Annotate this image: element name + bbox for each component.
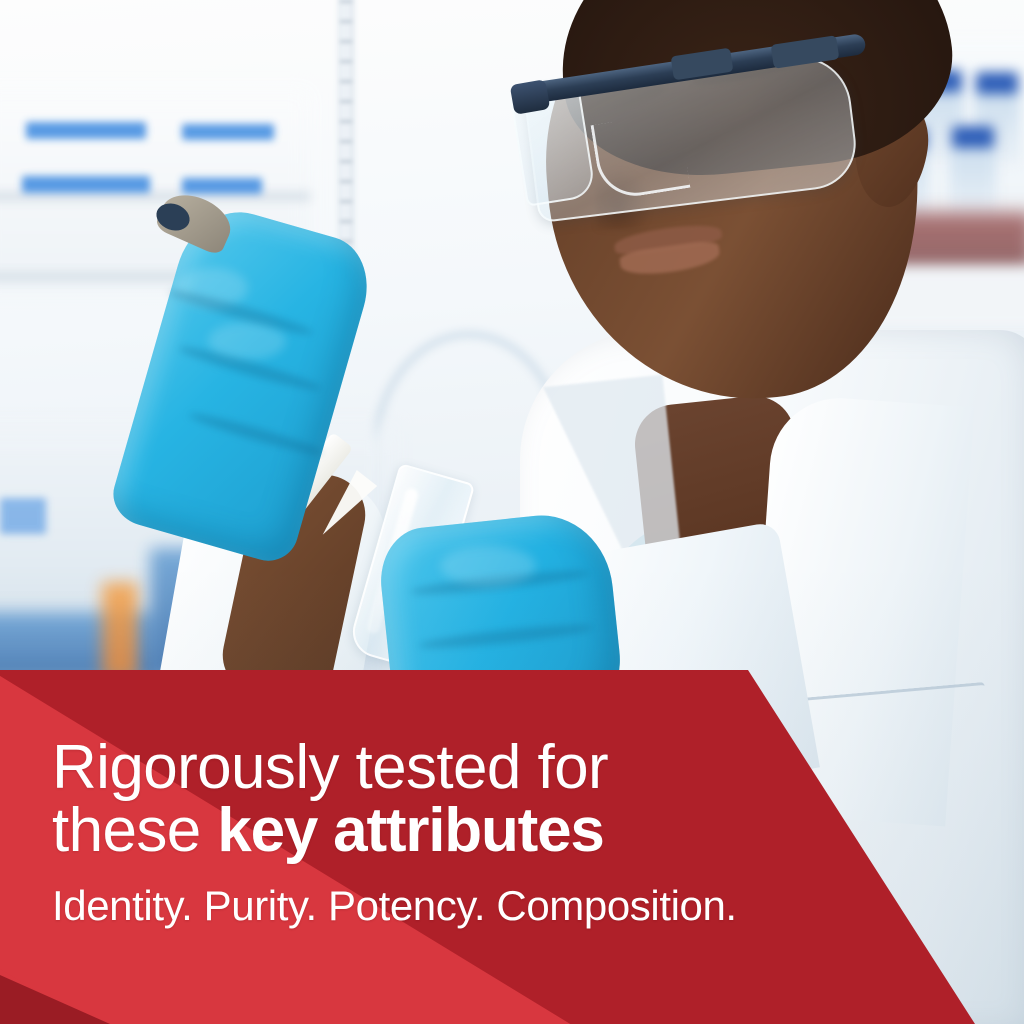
laboratory-photo bbox=[0, 0, 1024, 1024]
reagent-label-3 bbox=[22, 176, 150, 193]
glove-right-highlight bbox=[440, 546, 536, 586]
shelf-edge-1 bbox=[0, 192, 310, 201]
reagent-bottle-5 bbox=[950, 140, 996, 218]
lab-coat-pocket bbox=[795, 682, 995, 821]
bench-label-left bbox=[0, 498, 46, 534]
promotional-image: Rigorously tested for these key attribut… bbox=[0, 0, 1024, 1024]
reagent-label-1 bbox=[26, 122, 146, 139]
storage-box-orange bbox=[102, 582, 138, 680]
reagent-label-2 bbox=[182, 124, 274, 140]
reagent-label-4 bbox=[182, 178, 262, 194]
safety-goggles-hinge bbox=[510, 79, 551, 115]
